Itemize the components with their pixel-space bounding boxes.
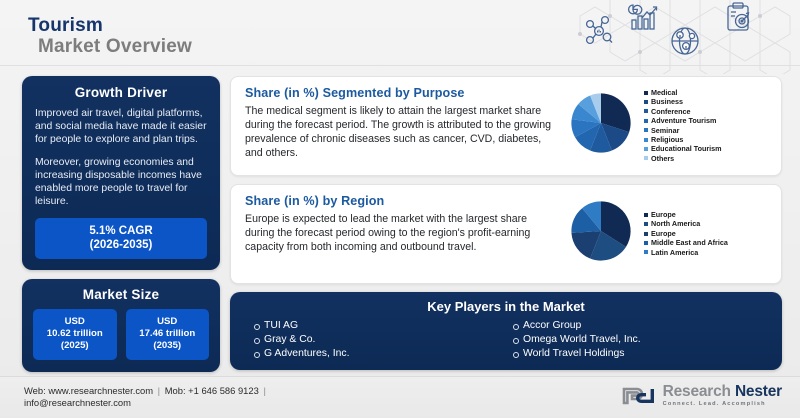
network-analysis-icon bbox=[587, 17, 612, 44]
legend-item: North America bbox=[644, 219, 769, 228]
share-by-purpose-heading: Share (in %) Segmented by Purpose bbox=[245, 86, 556, 100]
legend-item: Europe bbox=[644, 210, 769, 219]
purpose-pie-chart bbox=[564, 86, 638, 165]
legend-item: Others bbox=[644, 154, 769, 163]
purpose-chart-area: MedicalBusinessConferenceAdventure Touri… bbox=[564, 86, 769, 165]
key-players-columns: TUI AGGray & Co.G Adventures, Inc. Accor… bbox=[240, 319, 772, 361]
legend-item: Europe bbox=[644, 229, 769, 238]
legend-item: Adventure Tourism bbox=[644, 116, 769, 125]
region-chart-legend: EuropeNorth AmericaEuropeMiddle East and… bbox=[644, 210, 769, 257]
cagr-period: (2026-2035) bbox=[39, 239, 203, 253]
share-by-region-heading: Share (in %) by Region bbox=[245, 194, 556, 208]
logo-name: Research Nester bbox=[663, 384, 782, 400]
right-column: Share (in %) Segmented by Purpose The me… bbox=[230, 76, 782, 370]
market-size-values: USD 10.62 trillion (2025) USD 17.46 tril… bbox=[33, 309, 209, 359]
legend-label: North America bbox=[651, 219, 700, 228]
logo-tagline: Connect. Lead. Accomplish bbox=[663, 402, 782, 408]
separator-1: | bbox=[156, 385, 162, 396]
legend-item: Conference bbox=[644, 107, 769, 116]
year-label: (2035) bbox=[128, 340, 208, 352]
logo-mark-icon bbox=[621, 384, 657, 408]
region-pie-chart bbox=[564, 194, 638, 273]
share-by-region-text: Share (in %) by Region Europe is expecte… bbox=[245, 194, 564, 273]
legend-swatch bbox=[644, 91, 648, 95]
footer: Web: www.researchnester.com | Mob: +1 64… bbox=[0, 376, 800, 418]
market-size-card: Market Size USD 10.62 trillion (2025) US… bbox=[22, 279, 220, 371]
legend-label: Business bbox=[651, 97, 683, 106]
growth-driver-paragraph-1: Improved air travel, digital platforms, … bbox=[35, 107, 207, 147]
key-player-item: World Travel Holdings bbox=[513, 347, 772, 361]
mobile-label: Mob: bbox=[165, 385, 186, 396]
legend-swatch bbox=[644, 100, 648, 104]
key-player-item: Gray & Co. bbox=[254, 333, 513, 347]
legend-label: Medical bbox=[651, 88, 677, 97]
contact-info: Web: www.researchnester.com | Mob: +1 64… bbox=[24, 385, 268, 410]
header: Tourism Market Overview bbox=[0, 0, 800, 66]
key-player-item: Accor Group bbox=[513, 319, 772, 333]
logo-word-research: Research bbox=[663, 383, 731, 400]
legend-swatch bbox=[644, 147, 648, 151]
legend-swatch bbox=[644, 241, 648, 245]
share-by-purpose-text: Share (in %) Segmented by Purpose The me… bbox=[245, 86, 564, 165]
web-value[interactable]: www.researchnester.com bbox=[48, 385, 153, 396]
legend-label: Latin America bbox=[651, 248, 698, 257]
region-chart-area: EuropeNorth AmericaEuropeMiddle East and… bbox=[564, 194, 769, 273]
currency-label: USD bbox=[35, 316, 115, 328]
mobile-value[interactable]: +1 646 586 9123 bbox=[188, 385, 259, 396]
legend-label: Europe bbox=[651, 210, 676, 219]
left-column: Growth Driver Improved air travel, digit… bbox=[22, 76, 220, 372]
value-label: 10.62 trillion bbox=[35, 328, 115, 340]
title-sub: Market Overview bbox=[28, 36, 192, 58]
legend-swatch bbox=[644, 128, 648, 132]
growth-driver-card: Growth Driver Improved air travel, digit… bbox=[22, 76, 220, 270]
legend-label: Middle East and Africa bbox=[651, 238, 728, 247]
market-size-box-2035: USD 17.46 trillion (2035) bbox=[126, 309, 210, 359]
purpose-chart-legend: MedicalBusinessConferenceAdventure Touri… bbox=[644, 88, 769, 163]
key-players-card: Key Players in the Market TUI AGGray & C… bbox=[230, 292, 782, 370]
hexagon-decoration bbox=[550, 0, 800, 74]
legend-swatch bbox=[644, 232, 648, 236]
share-by-purpose-panel: Share (in %) Segmented by Purpose The me… bbox=[230, 76, 782, 176]
separator-2: | bbox=[261, 385, 267, 396]
share-by-region-panel: Share (in %) by Region Europe is expecte… bbox=[230, 184, 782, 284]
title-main: Tourism bbox=[28, 16, 192, 36]
legend-item: Medical bbox=[644, 88, 769, 97]
key-player-item: Omega World Travel, Inc. bbox=[513, 333, 772, 347]
legend-item: Religious bbox=[644, 135, 769, 144]
legend-item: Business bbox=[644, 97, 769, 106]
currency-label: USD bbox=[128, 316, 208, 328]
legend-label: Seminar bbox=[651, 126, 679, 135]
research-nester-logo: Research Nester Connect. Lead. Accomplis… bbox=[621, 384, 782, 408]
value-label: 17.46 trillion bbox=[128, 328, 208, 340]
year-label: (2025) bbox=[35, 340, 115, 352]
legend-swatch bbox=[644, 213, 648, 217]
legend-label: Educational Tourism bbox=[651, 144, 722, 153]
email-value[interactable]: info@researchnester.com bbox=[24, 397, 268, 409]
legend-label: Others bbox=[651, 154, 674, 163]
market-size-heading: Market Size bbox=[33, 287, 209, 302]
key-players-column-left: TUI AGGray & Co.G Adventures, Inc. bbox=[254, 319, 513, 361]
growth-driver-heading: Growth Driver bbox=[35, 85, 207, 100]
clipboard-target-icon bbox=[728, 3, 749, 30]
legend-item: Educational Tourism bbox=[644, 144, 769, 153]
web-label: Web: bbox=[24, 385, 46, 396]
legend-swatch bbox=[644, 119, 648, 123]
cagr-value: 5.1% CAGR bbox=[39, 225, 203, 239]
cagr-badge: 5.1% CAGR (2026-2035) bbox=[35, 218, 207, 259]
legend-swatch bbox=[644, 156, 648, 160]
legend-item: Latin America bbox=[644, 248, 769, 257]
legend-item: Middle East and Africa bbox=[644, 238, 769, 247]
legend-swatch bbox=[644, 222, 648, 226]
legend-swatch bbox=[644, 250, 648, 254]
legend-label: Religious bbox=[651, 135, 683, 144]
market-size-box-2025: USD 10.62 trillion (2025) bbox=[33, 309, 117, 359]
logo-word-nester: Nester bbox=[735, 383, 782, 400]
page-title: Tourism Market Overview bbox=[28, 16, 192, 58]
legend-swatch bbox=[644, 138, 648, 142]
logo-text: Research Nester Connect. Lead. Accomplis… bbox=[663, 384, 782, 407]
share-by-region-body: Europe is expected to lead the market wi… bbox=[245, 212, 556, 254]
infographic-page: Tourism Market Overview Growth Driver Im… bbox=[0, 0, 800, 418]
legend-label: Europe bbox=[651, 229, 676, 238]
legend-label: Conference bbox=[651, 107, 691, 116]
legend-label: Adventure Tourism bbox=[651, 116, 716, 125]
share-by-purpose-body: The medical segment is likely to attain … bbox=[245, 104, 556, 160]
key-player-item: TUI AG bbox=[254, 319, 513, 333]
legend-swatch bbox=[644, 109, 648, 113]
growth-driver-paragraph-2: Moreover, growing economies and increasi… bbox=[35, 156, 207, 209]
key-players-heading: Key Players in the Market bbox=[240, 299, 772, 314]
globe-location-icon bbox=[672, 28, 698, 54]
key-players-column-right: Accor GroupOmega World Travel, Inc.World… bbox=[513, 319, 772, 361]
key-player-item: G Adventures, Inc. bbox=[254, 347, 513, 361]
legend-item: Seminar bbox=[644, 126, 769, 135]
body: Growth Driver Improved air travel, digit… bbox=[0, 66, 800, 376]
